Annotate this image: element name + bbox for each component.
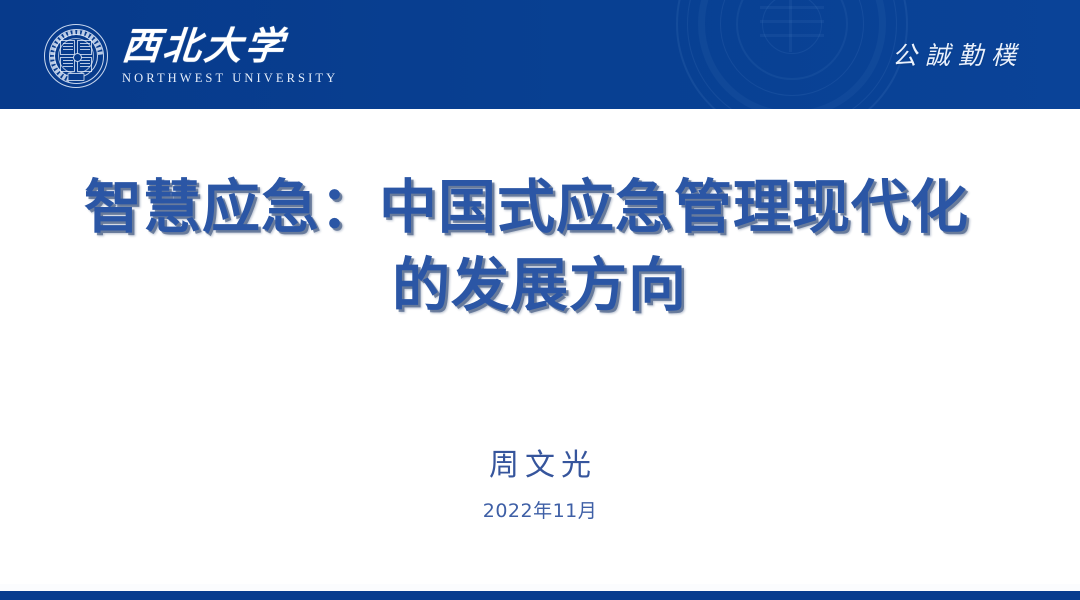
university-name-english: NORTHWEST UNIVERSITY (122, 71, 338, 86)
slide-title-line-2: 的发展方向 (0, 246, 1080, 324)
presenter-name: 周文光 (0, 440, 1080, 484)
footer-spacer (0, 584, 1080, 591)
university-motto: 公誠勤樸 (892, 36, 1024, 72)
seal-year-banner (68, 73, 85, 81)
slide-footer-band (0, 591, 1080, 600)
university-logo: 西北大学 NORTHWEST UNIVERSITY (44, 16, 338, 96)
presentation-date: 2022年11月 (0, 496, 1080, 523)
slide-header-band: 西北大学 NORTHWEST UNIVERSITY 公誠勤樸 (0, 0, 1080, 109)
slide-title-line-1: 智慧应急：中国式应急管理现代化 (0, 168, 1080, 246)
university-name-chinese: 西北大学 (120, 26, 340, 66)
university-seal-icon (44, 24, 108, 88)
presentation-title-slide: 西北大学 NORTHWEST UNIVERSITY 公誠勤樸 智慧应急：中国式应… (0, 0, 1080, 600)
slide-title: 智慧应急：中国式应急管理现代化 的发展方向 (0, 168, 1080, 324)
